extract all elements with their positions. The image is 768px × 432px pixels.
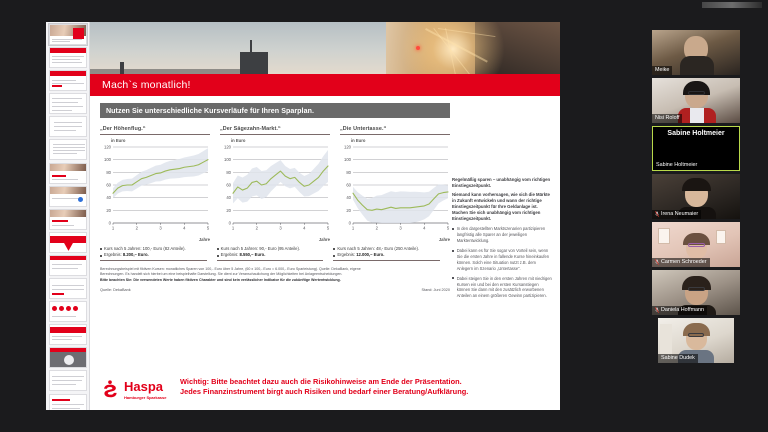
slide-thumbnail[interactable] xyxy=(49,139,87,160)
info-bullet-text: Dabei kann es für Sie sogar von Vorteil … xyxy=(457,248,552,272)
result-price: Kurs nach 5 Jahren: 100,- Euro (82 Antei… xyxy=(104,246,186,251)
participant-name-tag: Carmen Schroeder xyxy=(652,258,710,267)
participant-name-tag: Sabine Holtmeier xyxy=(653,161,700,170)
result-outcome-value: 12.000,– Euro. xyxy=(356,252,384,257)
result-untertasse: Kurs nach 5 Jahren: 48,- Euro (250 Antei… xyxy=(333,246,440,261)
participant-name-tag: Sabine Dudek xyxy=(658,354,698,363)
slide-thumbnail[interactable] xyxy=(49,116,87,137)
slide-thumbnail[interactable] xyxy=(49,370,87,391)
bullet-icon xyxy=(217,248,219,250)
bullet-icon xyxy=(452,250,454,252)
bullet-icon xyxy=(452,277,454,279)
chart-plot: 02040608010012012345 xyxy=(340,143,450,235)
chart-xlabel: Jahre xyxy=(439,237,450,242)
slide-thumbnail[interactable] xyxy=(49,24,87,45)
svg-text:60: 60 xyxy=(226,183,231,188)
participant-tile[interactable]: Daniela Hoffmann xyxy=(652,270,740,315)
svg-text:120: 120 xyxy=(104,145,112,150)
participant-tile[interactable]: Carmen Schroeder xyxy=(652,222,740,267)
risk-warning: Wichtig: Bitte beachtet dazu auch die Ri… xyxy=(180,377,550,398)
info-bullet: Dabei kann es für Sie sogar von Vorteil … xyxy=(452,248,552,272)
slide-title: Mach`s monatlich! xyxy=(102,79,191,91)
footnote-source: Quelle: DekaBank xyxy=(100,288,131,292)
slide-thumbnail[interactable] xyxy=(49,186,87,207)
slide-thumbnail[interactable] xyxy=(49,47,87,68)
info-bullet-text: In den dargestellten Marktszenarien part… xyxy=(457,226,552,244)
svg-text:120: 120 xyxy=(224,145,232,150)
risk-warning-line-2: Jedes Finanzinstrument birgt auch Risike… xyxy=(180,387,550,398)
svg-text:100: 100 xyxy=(224,157,232,162)
svg-text:100: 100 xyxy=(104,157,112,162)
svg-text:60: 60 xyxy=(106,183,111,188)
info-bullet-text: Dabei steigen Sie in den ersten Jahren m… xyxy=(457,276,552,300)
participant-name: Carmen Schroeder xyxy=(661,259,707,265)
footnote-line-3: Bitte beachten Sie: Die verwendeten Wert… xyxy=(100,278,450,283)
svg-text:3: 3 xyxy=(159,226,162,231)
svg-text:40: 40 xyxy=(106,195,111,200)
bullet-icon xyxy=(100,255,102,257)
footnote-meta: Quelle: DekaBank Stand: Juni 2020 xyxy=(100,288,450,292)
svg-text:20: 20 xyxy=(346,208,351,213)
svg-text:40: 40 xyxy=(226,195,231,200)
slide-thumbnail[interactable] xyxy=(49,394,87,411)
svg-text:80: 80 xyxy=(226,170,231,175)
participant-name-tag: Irena Neumaier xyxy=(652,210,701,219)
slide-thumbnail[interactable] xyxy=(49,209,87,230)
shared-slide: Mach`s monatlich! Nutzen Sie unterschied… xyxy=(90,22,560,410)
chart-title: „Der Höhenflug.“ xyxy=(100,126,210,132)
slide-thumbnail[interactable] xyxy=(49,324,87,345)
info-panel: Regelmäßig sparen – unabhängig vom richt… xyxy=(452,177,552,303)
svg-text:1: 1 xyxy=(112,226,115,231)
svg-text:60: 60 xyxy=(346,183,351,188)
chart-xlabel: Jahre xyxy=(199,237,210,242)
result-outcome-label: Ergebnis: xyxy=(221,252,240,257)
result-outcome-label: Ergebnis: xyxy=(337,252,356,257)
mic-muted-icon xyxy=(655,259,659,265)
brand-tagline: Hamburger Sparkasse xyxy=(124,395,166,400)
footnote-date: Stand: Juni 2020 xyxy=(422,288,451,292)
svg-text:3: 3 xyxy=(399,226,402,231)
bullet-icon xyxy=(333,255,335,257)
zoom-screenshare-window: Mach`s monatlich! Nutzen Sie unterschied… xyxy=(0,0,768,432)
active-speaker-name: Sabine Holtmeier xyxy=(653,127,739,137)
slide-thumbnail[interactable] xyxy=(49,347,87,368)
slide-hero-image xyxy=(90,22,560,74)
svg-text:1: 1 xyxy=(352,226,355,231)
charts-row: „Der Höhenflug.“ in Euro 020406080100120… xyxy=(100,126,450,242)
participant-tile[interactable]: Sabine Dudek xyxy=(658,318,734,363)
participant-name: Sabine Holtmeier xyxy=(656,162,697,168)
result-price: Kurs nach 5 Jahren: 48,- Euro (250 Antei… xyxy=(337,246,419,251)
audio-indicator xyxy=(702,2,762,8)
svg-text:4: 4 xyxy=(423,226,426,231)
svg-text:4: 4 xyxy=(183,226,186,231)
participant-rail: Meike Nisi Roloff Sabine Holtmeier Sabin… xyxy=(640,0,768,432)
bullet-icon xyxy=(333,248,335,250)
participant-name: Irena Neumaier xyxy=(661,211,698,217)
haspa-logo: Haspa Hamburger Sparkasse xyxy=(100,380,166,400)
participant-name-tag: Daniela Hoffmann xyxy=(652,306,707,315)
chart-title: „Der Sägezahn-Markt.“ xyxy=(220,126,330,132)
svg-text:1: 1 xyxy=(232,226,235,231)
svg-text:5: 5 xyxy=(327,226,330,231)
result-outcome-value: 8.200,– Euro. xyxy=(123,252,149,257)
info-panel-intro: Niemand kann vorhersagen, wie sich die M… xyxy=(452,192,552,222)
slide-subtitle-bar: Nutzen Sie unterschiedliche Kursverläufe… xyxy=(100,103,450,118)
svg-text:2: 2 xyxy=(376,226,379,231)
svg-text:5: 5 xyxy=(207,226,210,231)
result-outcome-value: 8.550,– Euro. xyxy=(240,252,266,257)
participant-name-tag: Nisi Roloff xyxy=(652,114,682,123)
participant-name: Meike xyxy=(655,67,669,73)
svg-text:3: 3 xyxy=(279,226,282,231)
mic-muted-icon xyxy=(655,211,659,217)
chart-title: „Die Untertasse.“ xyxy=(340,126,450,132)
chart-plot: 02040608010012012345 xyxy=(100,143,210,235)
result-price: Kurs nach 5 Jahren: 90,- Euro (95 Anteil… xyxy=(221,246,300,251)
participant-tile[interactable]: Nisi Roloff xyxy=(652,78,740,123)
brand-name: Haspa xyxy=(124,380,166,393)
chart-results: Kurs nach 5 Jahren: 100,- Euro (82 Antei… xyxy=(100,246,450,261)
svg-text:40: 40 xyxy=(346,195,351,200)
chart-untertasse: „Die Untertasse.“ in Euro 02040608010012… xyxy=(340,126,450,242)
info-bullet: Dabei steigen Sie in den ersten Jahren m… xyxy=(452,276,552,300)
participant-tile-active-speaker[interactable]: Sabine Holtmeier Sabine Holtmeier xyxy=(652,126,740,171)
slide-thumbnail[interactable] xyxy=(49,301,87,322)
slide-thumbnail[interactable] xyxy=(49,163,87,184)
slide-thumbnail[interactable] xyxy=(49,255,87,276)
participant-name: Nisi Roloff xyxy=(655,115,679,121)
svg-text:100: 100 xyxy=(344,157,352,162)
bullet-icon xyxy=(217,255,219,257)
slide-thumbnail[interactable] xyxy=(49,93,87,114)
svg-text:2: 2 xyxy=(136,226,139,231)
chart-xlabel: Jahre xyxy=(319,237,330,242)
slide-thumbnail[interactable] xyxy=(49,278,87,299)
svg-text:120: 120 xyxy=(344,145,352,150)
sparkasse-s-icon xyxy=(100,380,120,400)
mic-muted-icon xyxy=(655,307,659,313)
svg-text:20: 20 xyxy=(106,208,111,213)
slide-title-banner: Mach`s monatlich! xyxy=(90,74,560,96)
chart-hoehenflug: „Der Höhenflug.“ in Euro 020406080100120… xyxy=(100,126,210,242)
svg-text:4: 4 xyxy=(303,226,306,231)
info-bullet: In den dargestellten Marktszenarien part… xyxy=(452,226,552,244)
svg-text:20: 20 xyxy=(226,208,231,213)
result-outcome-label: Ergebnis: xyxy=(104,252,123,257)
slide-subtitle: Nutzen Sie unterschiedliche Kursverläufe… xyxy=(106,107,314,115)
result-saegezahn: Kurs nach 5 Jahren: 90,- Euro (95 Anteil… xyxy=(217,246,324,261)
result-hoehenflug: Kurs nach 5 Jahren: 100,- Euro (82 Antei… xyxy=(100,246,207,261)
chart-plot: 02040608010012012345 xyxy=(220,143,330,235)
slide-thumbnail-strip[interactable] xyxy=(46,22,90,410)
participant-name-tag: Meike xyxy=(652,66,672,75)
risk-warning-line-1: Wichtig: Bitte beachtet dazu auch die Ri… xyxy=(180,377,550,388)
participant-name: Daniela Hoffmann xyxy=(661,307,704,313)
svg-text:80: 80 xyxy=(106,170,111,175)
bullet-icon xyxy=(100,248,102,250)
participant-name: Sabine Dudek xyxy=(661,355,695,361)
info-panel-heading: Regelmäßig sparen – unabhängig vom richt… xyxy=(452,177,552,189)
chart-saegezahn: „Der Sägezahn-Markt.“ in Euro 0204060801… xyxy=(220,126,330,242)
participant-tile[interactable]: Irena Neumaier xyxy=(652,174,740,219)
svg-text:80: 80 xyxy=(346,170,351,175)
slide-thumbnail[interactable] xyxy=(49,232,87,253)
slide-content: Nutzen Sie unterschiedliche Kursverläufe… xyxy=(90,96,560,410)
bullet-icon xyxy=(452,228,454,230)
svg-text:2: 2 xyxy=(256,226,259,231)
svg-text:5: 5 xyxy=(447,226,450,231)
participant-tile[interactable]: Meike xyxy=(652,30,740,75)
slide-thumbnail[interactable] xyxy=(49,70,87,91)
footnote: Berechnungsbeispiel mit fiktiven Kursen:… xyxy=(100,267,450,283)
